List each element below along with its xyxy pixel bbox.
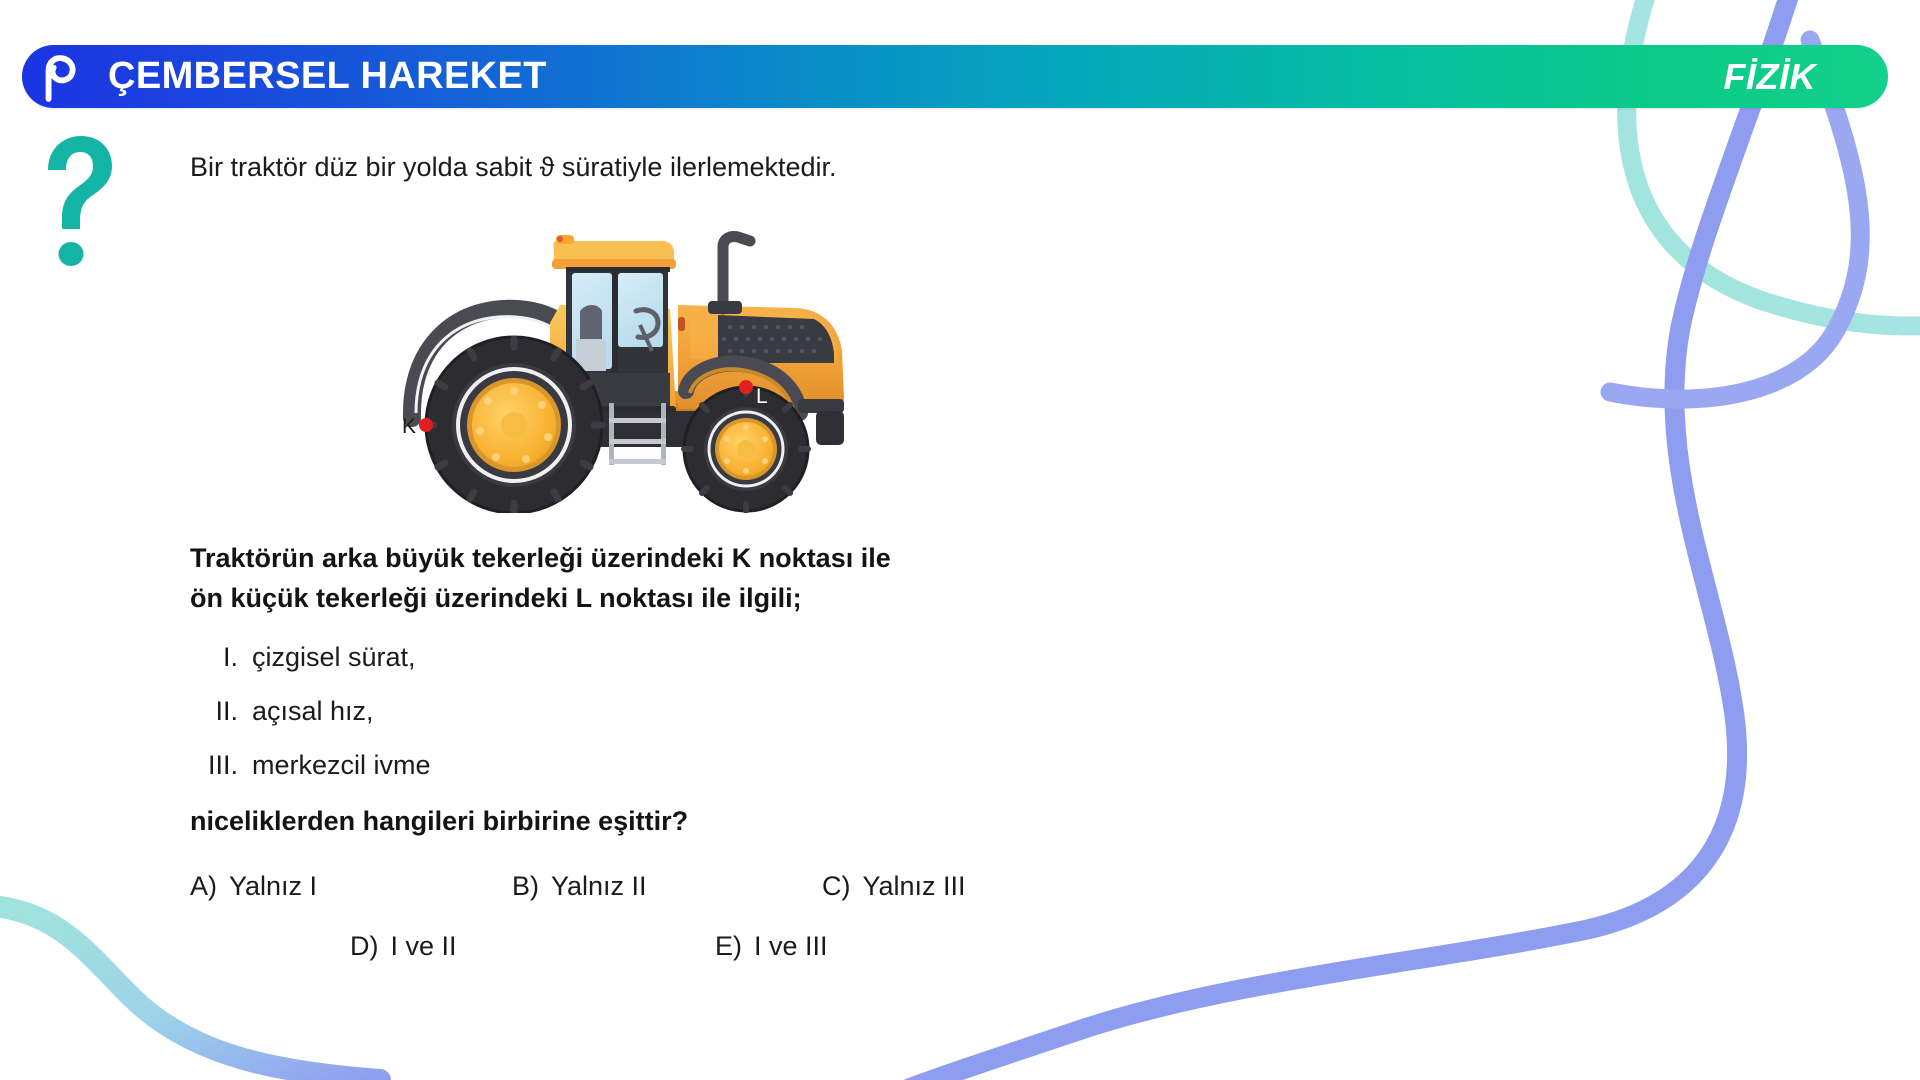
point-k-label: K [402, 415, 416, 438]
roman-item-list: I. çizgisel sürat, II. açısal hız, III. … [190, 644, 1370, 779]
option-b[interactable]: B) Yalnız II [512, 871, 647, 902]
header-subject-badge: FİZİK [1724, 56, 1816, 98]
closing-prompt: niceliklerden hangileri birbirine eşitti… [190, 806, 1370, 837]
header-title: ÇEMBERSEL HAREKET [108, 55, 547, 98]
option-b-text: Yalnız II [551, 871, 647, 902]
roman-numeral: II. [190, 698, 252, 725]
roman-item-text: çizgisel sürat, [252, 644, 416, 671]
tractor-illustration: K L [390, 213, 860, 513]
list-item: III. merkezcil ivme [190, 752, 1370, 779]
roman-item-text: açısal hız, [252, 698, 374, 725]
question-mark-icon [40, 132, 118, 268]
option-c-text: Yalnız III [863, 871, 966, 902]
option-row-1: A) Yalnız I B) Yalnız II C) Yalnız III [190, 871, 1370, 931]
roman-numeral: I. [190, 644, 252, 671]
option-a[interactable]: A) Yalnız I [190, 871, 317, 902]
slide-root: ÇEMBERSEL HAREKET FİZİK Bir traktör düz … [0, 0, 1920, 1080]
option-row-2: D) I ve II E) I ve III [190, 931, 1370, 991]
roman-numeral: III. [190, 752, 252, 779]
option-a-text: Yalnız I [229, 871, 317, 902]
question-content: Bir traktör düz bir yolda sabit ϑ sürati… [190, 150, 1370, 991]
option-d-letter: D) [350, 931, 379, 962]
point-l-marker [739, 380, 753, 394]
question-stem: Traktörün arka büyük tekerleği üzerindek… [190, 539, 1370, 618]
option-b-letter: B) [512, 871, 539, 902]
option-d[interactable]: D) I ve II [350, 931, 457, 962]
list-item: I. çizgisel sürat, [190, 644, 1370, 671]
option-e-letter: E) [715, 931, 742, 962]
header-bar: ÇEMBERSEL HAREKET FİZİK [22, 45, 1888, 108]
intro-text: Bir traktör düz bir yolda sabit ϑ sürati… [190, 150, 1370, 185]
stem-line-2: ön küçük tekerleği üzerindeki L noktası … [190, 579, 1370, 618]
answer-options: A) Yalnız I B) Yalnız II C) Yalnız III D… [190, 871, 1370, 991]
option-c[interactable]: C) Yalnız III [822, 871, 966, 902]
point-k-marker [419, 418, 433, 432]
option-e[interactable]: E) I ve III [715, 931, 828, 962]
option-d-text: I ve II [391, 931, 457, 962]
roman-item-text: merkezcil ivme [252, 752, 431, 779]
stem-line-1: Traktörün arka büyük tekerleği üzerindek… [190, 539, 1370, 578]
option-e-text: I ve III [754, 931, 828, 962]
list-item: II. açısal hız, [190, 698, 1370, 725]
option-c-letter: C) [822, 871, 851, 902]
pp-loop-logo-icon [28, 48, 86, 106]
point-l-label: L [756, 385, 768, 408]
option-a-letter: A) [190, 871, 217, 902]
